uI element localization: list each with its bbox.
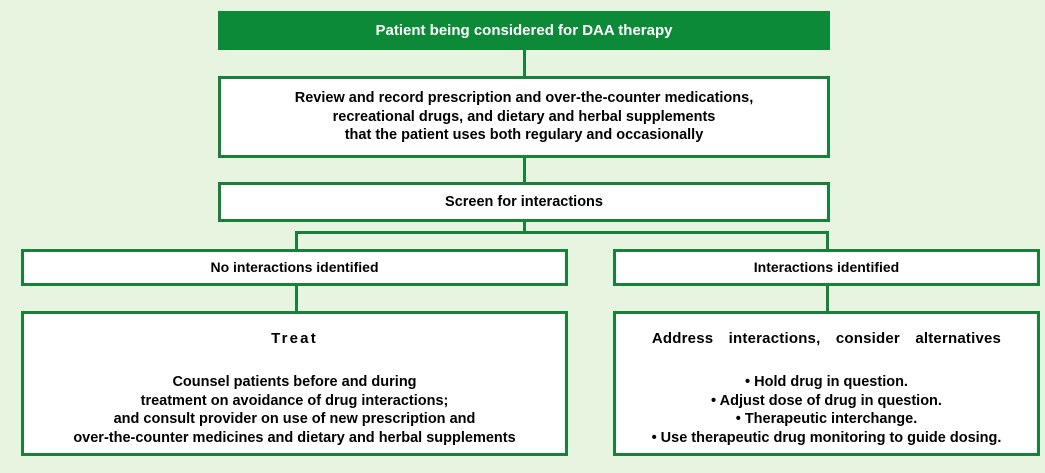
node-header-label: Patient being considered for DAA therapy bbox=[376, 21, 673, 40]
node-patient-considered-for-daa-therapy: Patient being considered for DAA therapy bbox=[218, 11, 830, 50]
connector-header-to-review bbox=[523, 48, 526, 78]
node-treat-line-1: Counsel patients before and during bbox=[73, 373, 515, 392]
connector-split-to-interactions bbox=[826, 231, 829, 251]
node-address-line-1: • Hold drug in question. bbox=[652, 373, 1002, 392]
node-review-and-record-medications: Review and record prescription and over-… bbox=[218, 76, 830, 158]
connector-review-to-screen bbox=[523, 156, 526, 184]
node-treat-title: Treat bbox=[271, 330, 318, 347]
node-address-body: • Hold drug in question. • Adjust dose o… bbox=[652, 373, 1002, 447]
node-address-line-3: • Therapeutic interchange. bbox=[652, 410, 1002, 429]
node-review-line-1: Review and record prescription and over-… bbox=[295, 89, 753, 108]
node-address-title: Address interactions, consider alternati… bbox=[652, 330, 1001, 347]
node-review-line-2: recreational drugs, and dietary and herb… bbox=[333, 108, 716, 127]
node-address-line-2: • Adjust dose of drug in question. bbox=[652, 392, 1002, 411]
node-treat: Treat Counsel patients before and during… bbox=[21, 311, 568, 456]
connector-interactions-to-address bbox=[826, 284, 829, 313]
node-treat-line-3: and consult provider on use of new presc… bbox=[73, 410, 515, 429]
connector-no-interactions-to-treat bbox=[295, 284, 298, 313]
node-review-line-3: that the patient uses both regulary and … bbox=[345, 126, 704, 145]
node-treat-body: Counsel patients before and during treat… bbox=[73, 373, 515, 447]
node-no-interactions-label: No interactions identified bbox=[210, 259, 378, 277]
node-screen-label: Screen for interactions bbox=[445, 193, 603, 212]
node-treat-line-4: over-the-counter medicines and dietary a… bbox=[73, 429, 515, 448]
node-address-interactions: Address interactions, consider alternati… bbox=[613, 311, 1040, 456]
flowchart-canvas: Patient being considered for DAA therapy… bbox=[0, 0, 1045, 473]
node-treat-line-2: treatment on avoidance of drug interacti… bbox=[73, 392, 515, 411]
node-screen-for-interactions: Screen for interactions bbox=[218, 182, 830, 222]
node-address-line-4: • Use therapeutic drug monitoring to gui… bbox=[652, 429, 1002, 448]
connector-split-horizontal bbox=[295, 231, 829, 234]
connector-split-to-no-interactions bbox=[295, 231, 298, 251]
node-interactions-identified: Interactions identified bbox=[613, 249, 1040, 286]
node-interactions-label: Interactions identified bbox=[754, 259, 899, 277]
node-no-interactions-identified: No interactions identified bbox=[21, 249, 568, 286]
